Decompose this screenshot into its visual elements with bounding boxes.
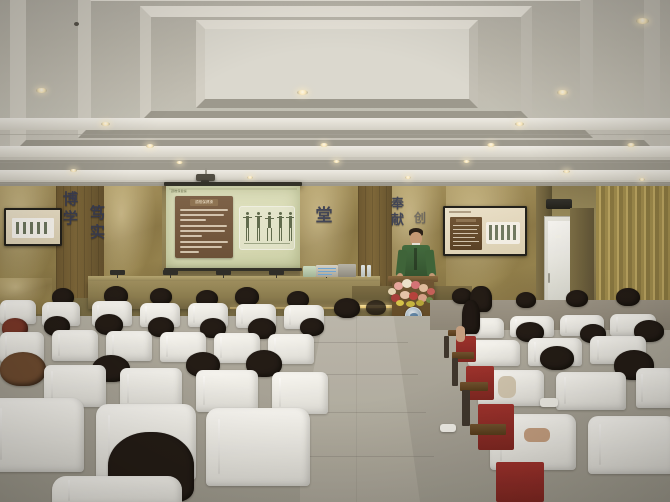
projection-screen: 颈椎保健操 颈椎保健操 — [166, 186, 300, 268]
downlight — [515, 122, 524, 126]
audience-head — [616, 288, 640, 306]
wall-character-left-2: 学 — [61, 211, 80, 226]
slide-figure-caption — [244, 243, 290, 244]
downlight — [36, 88, 47, 93]
downlight — [487, 143, 495, 147]
seat-back[interactable] — [496, 462, 544, 502]
audience-head — [0, 352, 46, 386]
left-wall-monitor — [4, 208, 62, 246]
audience-head — [540, 346, 574, 370]
exercise-figure — [286, 212, 295, 243]
ceiling-band-2 — [0, 146, 670, 157]
chair-cover[interactable] — [0, 398, 84, 472]
downlight — [146, 144, 154, 148]
seat-leg — [452, 358, 458, 386]
exercise-figure — [254, 212, 263, 243]
microphone-icon — [163, 270, 178, 275]
exercise-figure — [265, 212, 274, 243]
downlight — [636, 18, 649, 24]
door-handle-icon[interactable] — [548, 273, 550, 283]
wall-character-left-3: 笃 — [88, 206, 107, 221]
microphone-icon — [216, 270, 231, 275]
exercise-figure — [276, 212, 285, 243]
wall-character-left-1: 博 — [61, 192, 80, 207]
conference-hall-photo: 博 学 笃 实 堂 奉 献 创 颈椎保健操 颈椎保健操 — [0, 0, 670, 502]
chair-cover[interactable] — [52, 330, 98, 361]
downlight — [70, 169, 77, 172]
downlight — [563, 170, 570, 173]
chair-cover[interactable] — [588, 416, 670, 474]
right-wall-monitor — [443, 206, 527, 256]
audience-head — [334, 298, 360, 318]
ceiling-seam-3 — [0, 183, 670, 184]
wall-character-right-2: 献 — [389, 214, 406, 227]
downlight — [463, 160, 470, 163]
audience-shoulder — [498, 376, 516, 398]
ceiling-seam-1 — [0, 134, 670, 135]
seat-leg — [462, 390, 470, 426]
smoke-detector-icon — [74, 22, 79, 26]
downlight — [333, 160, 340, 163]
microphone-icon — [269, 270, 284, 275]
downlight — [101, 122, 110, 126]
wall-character-right-3: 创 — [412, 212, 428, 224]
equipment-box — [303, 266, 316, 277]
audience-head — [566, 290, 588, 307]
microphone-icon — [110, 270, 125, 275]
armrest — [470, 424, 506, 435]
slide-header-rule — [169, 188, 297, 190]
downlight — [639, 178, 645, 181]
slide-text-box-title: 颈椎保健操 — [190, 199, 218, 206]
ceiling-coffer-6 — [196, 20, 478, 108]
downlight — [557, 90, 568, 95]
door-sign — [555, 235, 561, 238]
downlight — [176, 161, 183, 164]
seat-leg — [444, 336, 449, 358]
chair-cover[interactable] — [556, 372, 626, 410]
presenter-jacket-zip — [414, 248, 417, 270]
wall-character-left-4: 实 — [88, 225, 107, 240]
exercise-figure — [243, 212, 252, 243]
downlight — [297, 90, 308, 95]
chair-cover[interactable] — [206, 408, 310, 486]
audience-arm — [456, 326, 465, 342]
downlight — [405, 176, 411, 179]
wall-character-center: 堂 — [314, 208, 334, 225]
water-bottle — [361, 265, 365, 277]
slide-text-box: 颈椎保健操 — [175, 196, 233, 258]
slide-figure-panel — [239, 206, 295, 250]
downlight — [247, 176, 253, 179]
shoe — [540, 398, 558, 407]
chair-cover[interactable] — [636, 368, 670, 408]
downlight — [627, 143, 635, 147]
audience-hand — [524, 428, 550, 442]
audience-head — [366, 300, 386, 315]
audience-head — [516, 292, 536, 308]
chair-cover[interactable] — [196, 370, 258, 412]
chair-cover[interactable] — [52, 476, 182, 502]
water-bottle — [367, 265, 371, 277]
shoe — [440, 424, 456, 432]
equipment-unit — [338, 264, 356, 277]
audio-mixer — [316, 265, 338, 277]
wall-speaker-icon — [546, 199, 572, 209]
coffered-ceiling — [0, 0, 670, 192]
downlight — [320, 143, 328, 147]
wall-character-right-1: 奉 — [389, 198, 406, 211]
